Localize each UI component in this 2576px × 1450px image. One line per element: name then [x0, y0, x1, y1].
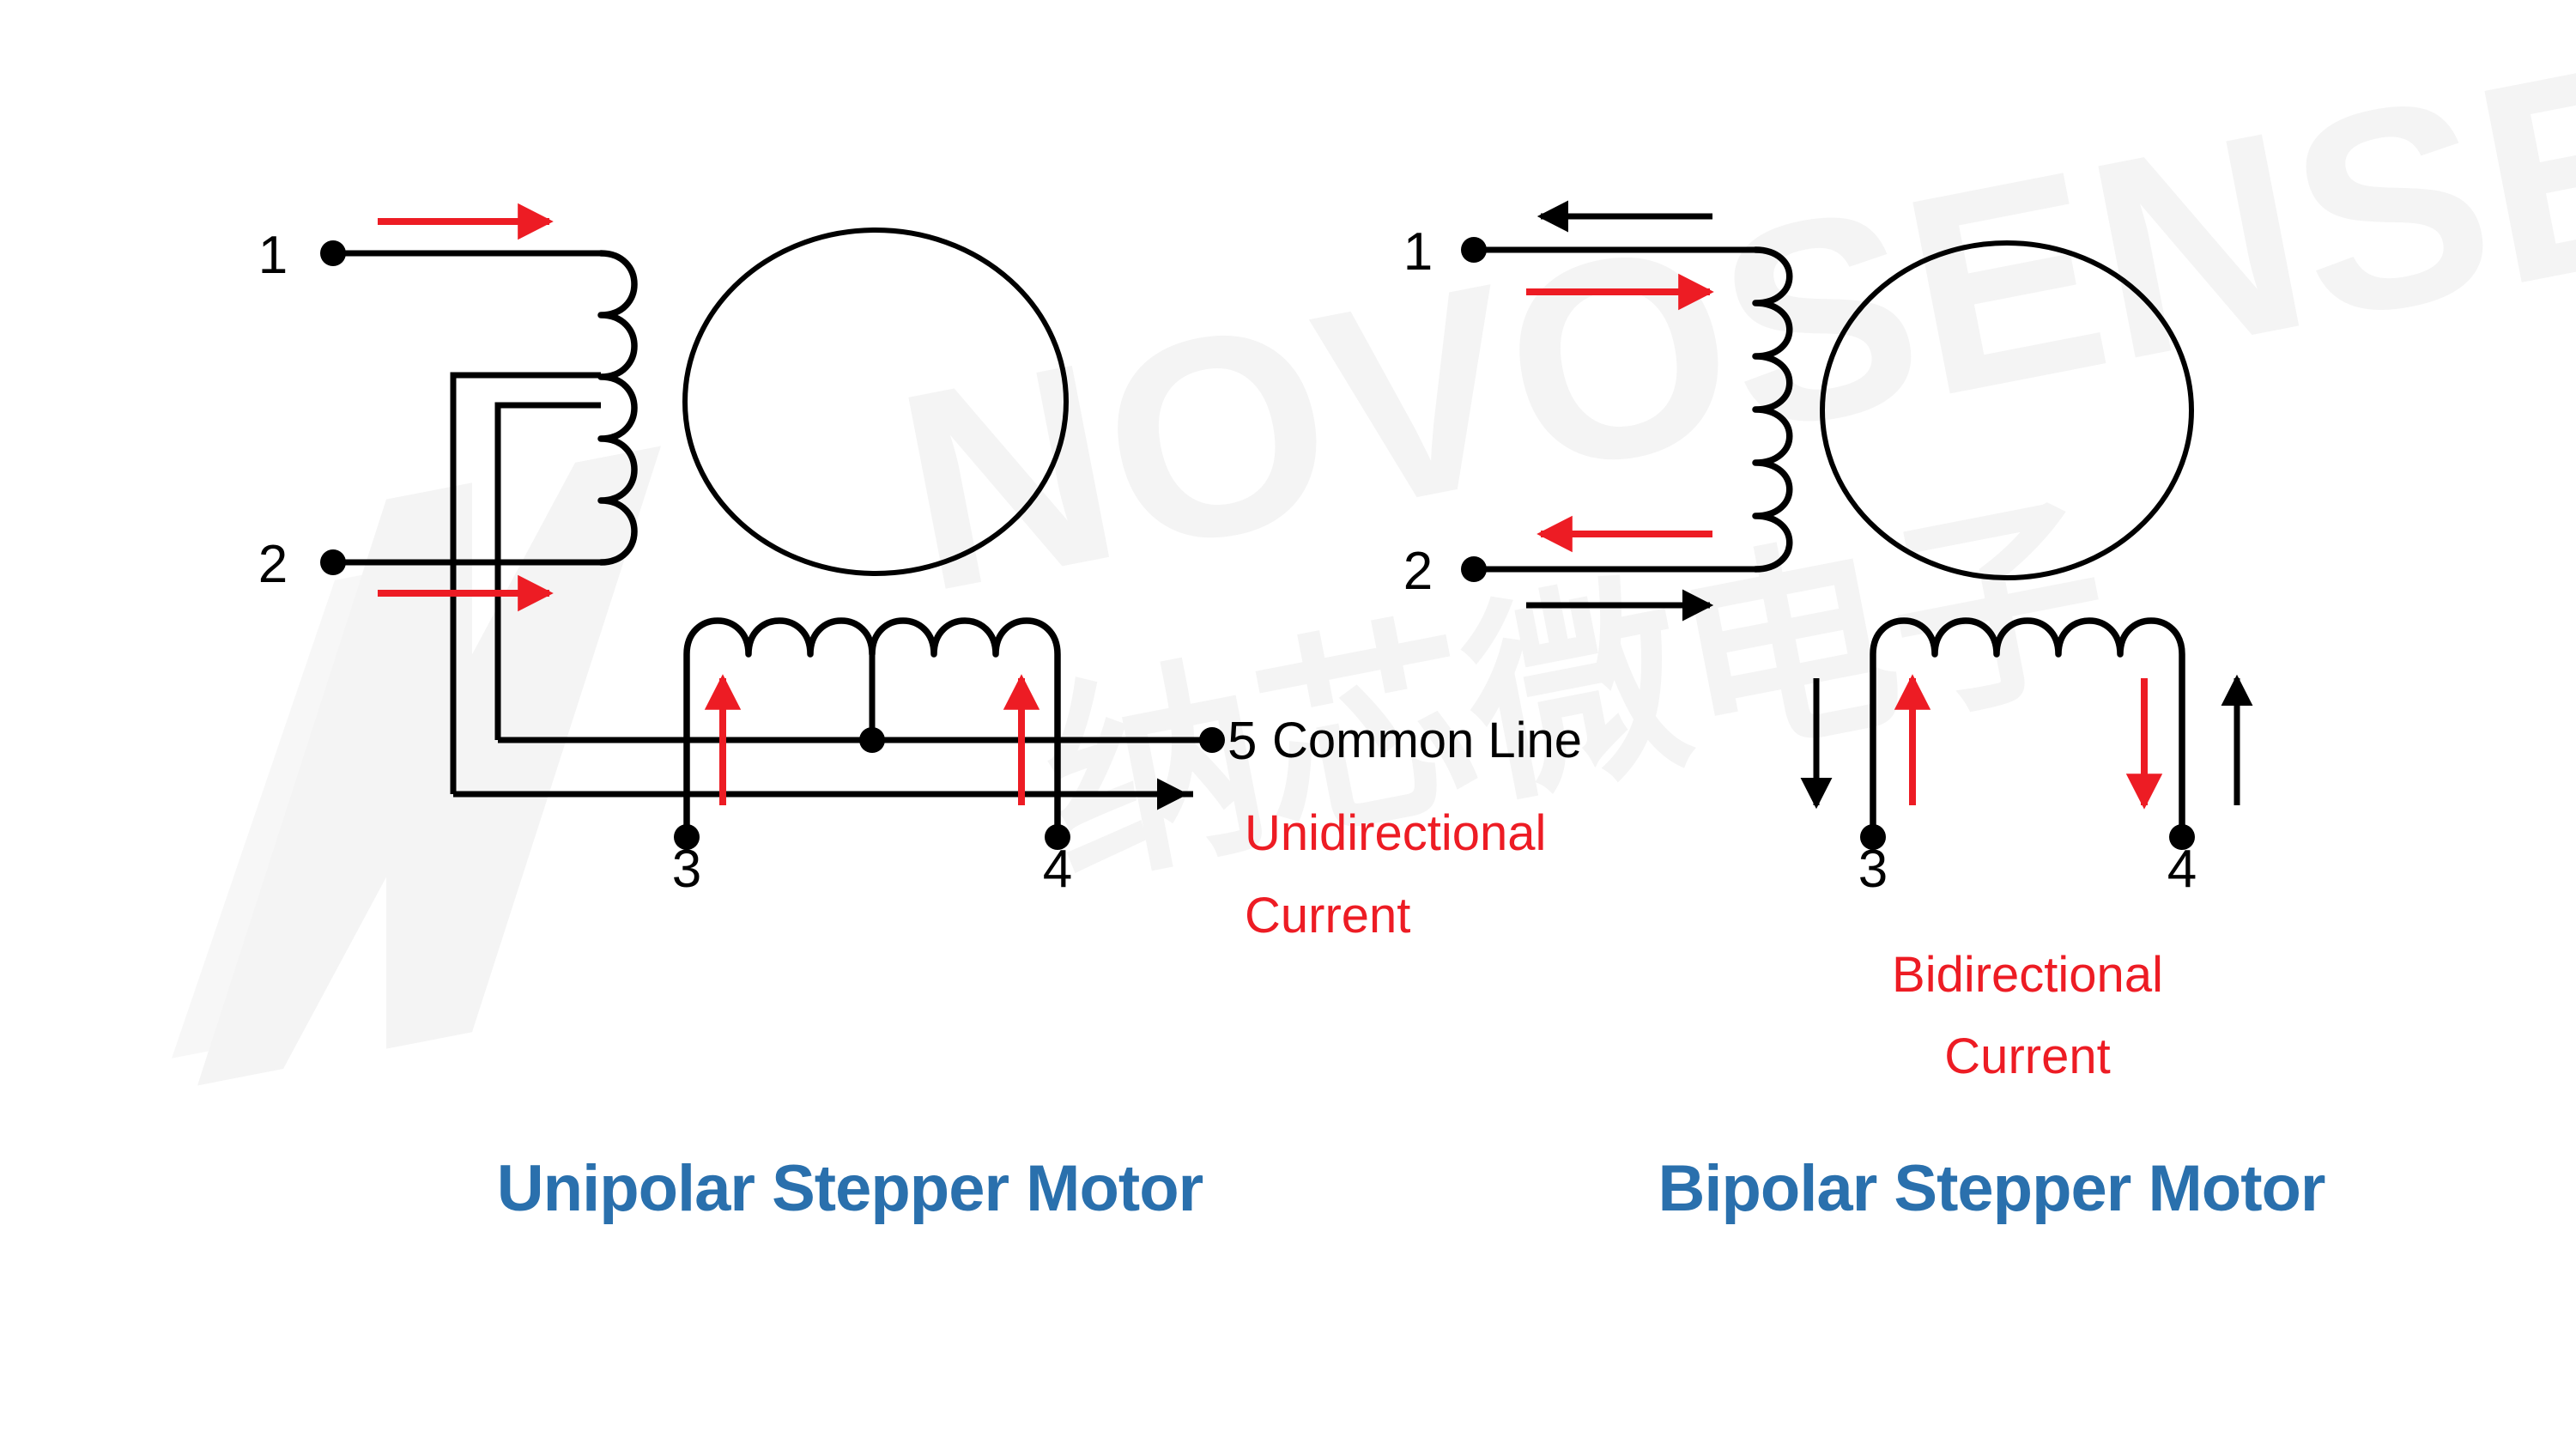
- terminal-dot-1: [320, 240, 346, 266]
- terminal-label-5: 5: [1227, 712, 1257, 771]
- bp-terminal-label-2: 2: [1403, 542, 1433, 601]
- junction-center-tap: [859, 727, 885, 753]
- bipolar-title: Bipolar Stepper Motor: [1658, 1152, 2324, 1225]
- bp-terminal-label-4: 4: [2167, 840, 2197, 899]
- terminal-dot-5: [1199, 727, 1225, 753]
- bidirectional-current-line1: Bidirectional: [1892, 947, 2163, 1003]
- bp-terminal-label-1: 1: [1403, 222, 1433, 282]
- terminal-label-4: 4: [1043, 840, 1072, 899]
- bp-terminal-label-3: 3: [1858, 840, 1888, 899]
- bidirectional-current-line2: Current: [1944, 1028, 2110, 1084]
- terminal-label-1: 1: [258, 226, 288, 285]
- terminal-label-3: 3: [672, 840, 701, 899]
- diagram-canvas: NOVOSENSE 纳芯微电子: [0, 0, 2576, 1450]
- terminal-label-2: 2: [258, 535, 288, 594]
- terminal-dot-2: [320, 549, 346, 575]
- bp-terminal-dot-2: [1461, 556, 1487, 582]
- unidirectional-current-line1: Unidirectional: [1245, 805, 1546, 861]
- common-line-label: Common Line: [1272, 713, 1582, 768]
- unipolar-title: Unipolar Stepper Motor: [497, 1152, 1203, 1225]
- bp-terminal-dot-1: [1461, 237, 1487, 263]
- unidirectional-current-line2: Current: [1245, 888, 1410, 943]
